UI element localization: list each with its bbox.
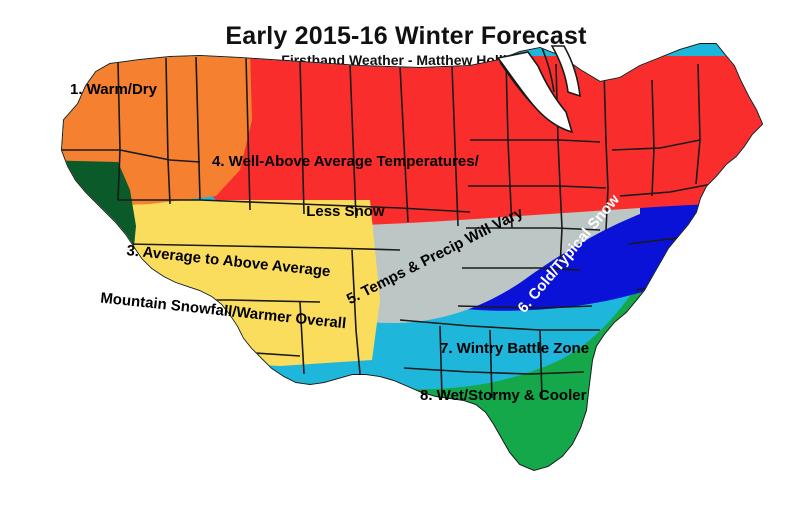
forecast-map-canvas: Early 2015-16 Winter Forecast Firsthand …	[0, 0, 812, 524]
us-map-svg	[0, 0, 812, 524]
zone-2-fill	[30, 160, 136, 386]
map-color-zones	[0, 0, 812, 524]
